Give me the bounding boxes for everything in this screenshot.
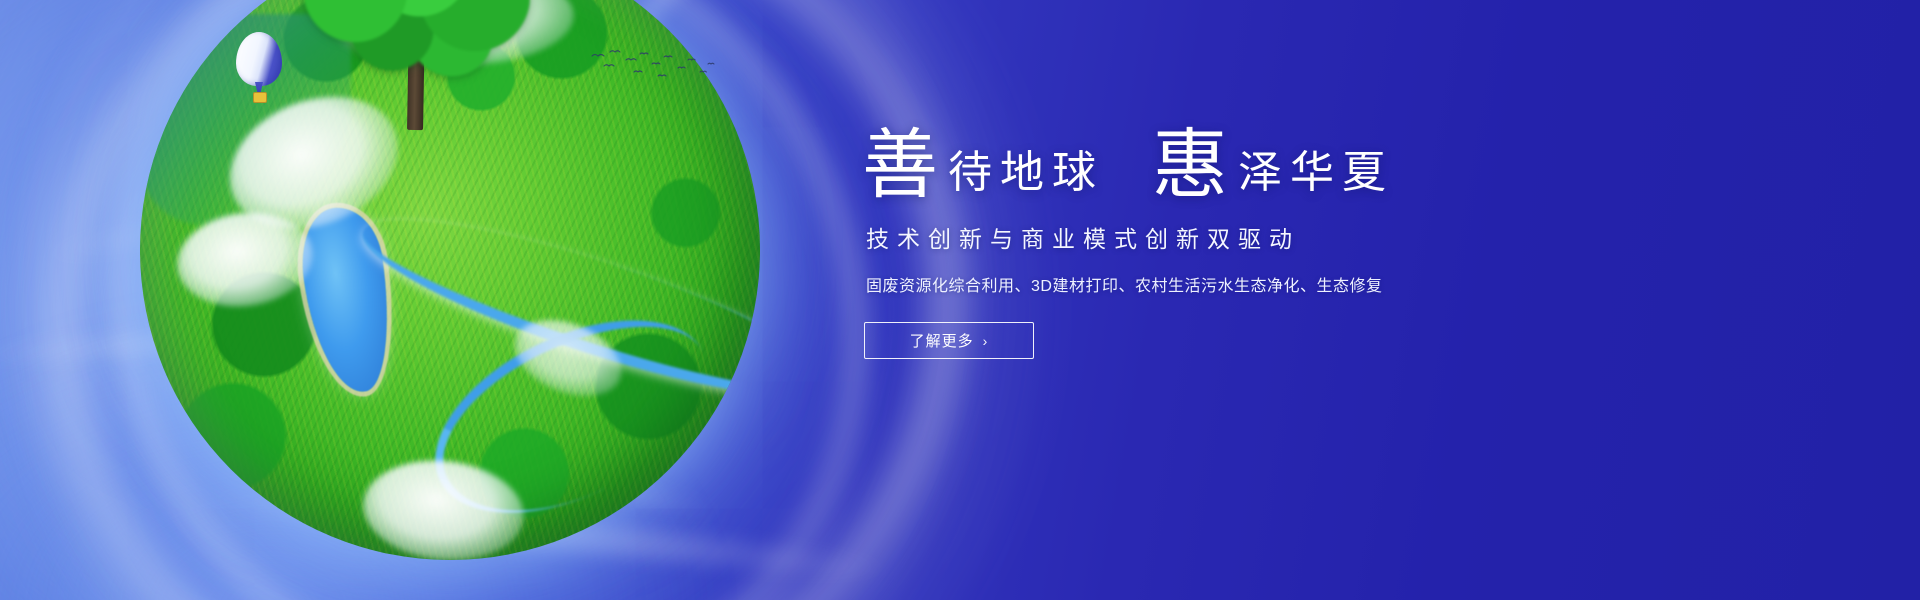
chevron-right-icon: › — [983, 333, 989, 349]
cloud-icon — [385, 0, 577, 70]
headline-phrase2-emphasis: 惠 — [1152, 128, 1228, 204]
headline: 善 待地球 惠 泽华夏 — [862, 128, 1762, 204]
subtitle: 技术创新与商业模式创新双驱动 — [866, 220, 1762, 254]
bird-flock-icon — [588, 48, 718, 88]
tree-trunk — [407, 18, 425, 130]
balloon-neck — [255, 82, 263, 92]
cloud-wisp — [498, 0, 822, 190]
tiny-planet-globe — [140, 0, 760, 560]
river-icon — [349, 189, 760, 428]
cloud-icon — [171, 204, 319, 315]
mountain-ridge — [140, 14, 351, 225]
background-glow-left — [0, 0, 990, 600]
cloud-icon — [503, 306, 632, 411]
learn-more-button[interactable]: 了解更多 › — [864, 322, 1034, 359]
cloud-wisp — [0, 312, 480, 366]
globe-surface — [140, 0, 760, 560]
learn-more-label: 了解更多 — [910, 330, 974, 351]
tree-canopy — [300, 0, 530, 80]
hero-content: 善 待地球 惠 泽华夏 技术创新与商业模式创新双驱动 固废资源化综合利用、3D建… — [862, 128, 1762, 359]
cloud-wisp — [35, 114, 666, 269]
hero-banner: 善 待地球 惠 泽华夏 技术创新与商业模式创新双驱动 固废资源化综合利用、3D建… — [0, 0, 1920, 600]
cloud-icon — [210, 73, 417, 253]
mist-icon — [340, 4, 520, 60]
headline-phrase1-emphasis: 善 — [862, 128, 938, 204]
large-tree — [300, 0, 530, 130]
headline-phrase1-rest: 待地球 — [938, 151, 1104, 195]
cloud-wisp — [126, 355, 733, 528]
river-icon — [405, 281, 738, 552]
cloud-wisp — [101, 0, 580, 242]
balloon-basket — [253, 92, 267, 103]
description: 固废资源化综合利用、3D建材打印、农村生活污水生态净化、生态修复 — [866, 272, 1762, 296]
background-glow-bottom — [0, 300, 720, 600]
cloud-icon — [358, 453, 529, 560]
balloon-envelope — [236, 32, 282, 86]
cloud-wisp — [200, 483, 899, 584]
headline-phrase2-rest: 泽华夏 — [1228, 151, 1394, 195]
hot-air-balloon — [236, 32, 282, 104]
lake-icon — [295, 202, 401, 397]
